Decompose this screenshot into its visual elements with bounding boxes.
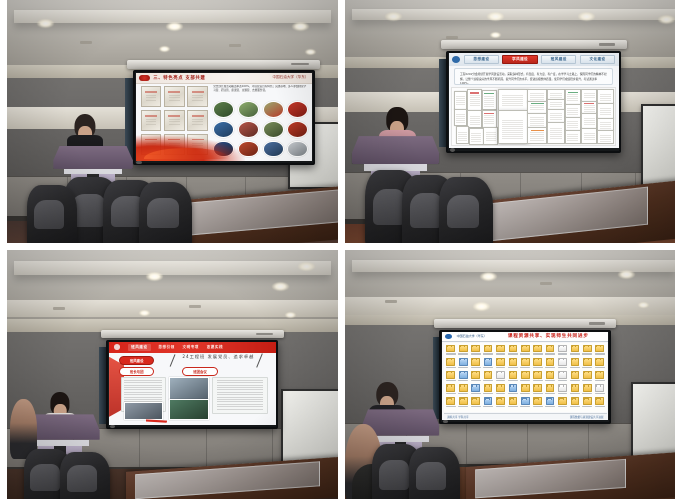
folder-icon xyxy=(496,384,505,391)
folder-icon xyxy=(521,397,530,404)
slide-tab-bar: 思想建设 学风建设 班风建设 文化建设 xyxy=(449,53,619,65)
folder-label xyxy=(483,367,493,368)
content-card-right xyxy=(212,377,267,414)
folder-label xyxy=(545,393,555,394)
screen-side-stand xyxy=(439,59,446,147)
diagonal-rule xyxy=(256,354,263,368)
folder-label xyxy=(471,393,481,394)
document-thumb xyxy=(456,126,469,144)
folder-item[interactable] xyxy=(545,358,556,370)
slide-honors-activities: 三、特色亮点 支部共建 中国石油大学（华东） 党支部开 xyxy=(136,73,312,161)
pill-class-style: 班风建设 xyxy=(119,356,154,366)
folder-item[interactable] xyxy=(507,397,518,409)
document-thumb xyxy=(547,122,565,144)
folder-item[interactable] xyxy=(507,345,518,357)
folder-icon xyxy=(595,397,604,404)
folder-item[interactable] xyxy=(495,397,506,409)
folder-item[interactable] xyxy=(458,384,469,396)
folder-label xyxy=(520,367,530,368)
folder-item[interactable] xyxy=(458,397,469,409)
folder-icon xyxy=(496,345,505,352)
folder-label xyxy=(496,353,506,354)
activity-photo xyxy=(263,101,284,118)
status-bar: 资料共享 学科共享 课程数据与资源建设共享进展 xyxy=(444,413,607,419)
folder-icon xyxy=(583,345,592,352)
ceiling-light xyxy=(658,15,675,24)
folder-label xyxy=(570,393,580,394)
folder-item[interactable] xyxy=(570,397,581,409)
document-thumb xyxy=(597,118,614,131)
folder-item[interactable] xyxy=(532,384,543,396)
folder-icon xyxy=(471,397,480,404)
slide-tabbed-overview: 思想建设 学风建设 班风建设 文化建设 工程2201分会持续开展学风建设活动，采… xyxy=(449,53,619,148)
folder-label xyxy=(471,367,481,368)
document-thumb xyxy=(581,89,598,101)
folder-label xyxy=(471,353,481,354)
folder-icon xyxy=(595,384,604,391)
folder-item[interactable] xyxy=(495,371,506,383)
activity-photo xyxy=(263,121,284,138)
folder-item[interactable] xyxy=(470,371,481,383)
folder-item[interactable] xyxy=(458,358,469,370)
screen-brand-logo xyxy=(450,148,455,152)
folder-icon xyxy=(558,345,567,352)
folder-icon xyxy=(446,358,455,365)
folder-item[interactable] xyxy=(557,358,568,370)
folder-item[interactable] xyxy=(594,345,605,357)
folder-icon xyxy=(471,371,480,378)
folder-label xyxy=(595,367,605,368)
folder-icon xyxy=(558,384,567,391)
folder-label xyxy=(483,380,493,381)
folder-item[interactable] xyxy=(458,345,469,357)
certificate-thumb xyxy=(141,110,162,131)
folder-label xyxy=(458,393,468,394)
event-photo xyxy=(169,377,209,400)
folder-item[interactable] xyxy=(470,358,481,370)
folder-label xyxy=(496,406,506,407)
folder-item[interactable] xyxy=(507,358,518,370)
lectern-top xyxy=(352,136,440,164)
folder-item[interactable] xyxy=(532,371,543,383)
folder-label xyxy=(545,353,555,354)
folder-item[interactable] xyxy=(520,384,531,396)
folder-item[interactable] xyxy=(470,397,481,409)
banner-item-class-style[interactable]: 班风建设 xyxy=(128,344,150,351)
screen-mount-rail xyxy=(434,319,616,328)
activity-photo xyxy=(213,101,234,118)
slide-title: 三、特色亮点 支部共建 xyxy=(153,75,205,81)
folder-icon xyxy=(521,358,530,365)
ceiling-vent xyxy=(189,305,201,308)
whiteboard xyxy=(641,104,675,186)
collage-panel-top-left: 三、特色亮点 支部共建 中国石油大学（华东） 党支部开 xyxy=(7,0,338,243)
folder-item[interactable] xyxy=(582,345,593,357)
slide-kicker: 24工程班 发展党员、追求卓越 xyxy=(182,354,254,360)
conference-chair xyxy=(60,452,110,499)
document-thumb xyxy=(527,101,547,113)
folder-icon xyxy=(583,371,592,378)
ceiling-vent xyxy=(53,307,65,310)
folder-item[interactable] xyxy=(520,397,531,409)
folder-icon xyxy=(558,397,567,404)
folder-label xyxy=(595,353,605,354)
folder-label xyxy=(508,367,518,368)
folder-item[interactable] xyxy=(445,397,456,409)
slide-title: 课程资源共享、实现师生共同进步 xyxy=(491,333,605,339)
folder-icon xyxy=(558,358,567,365)
folder-icon xyxy=(546,358,555,365)
folder-item[interactable] xyxy=(582,397,593,409)
folder-icon xyxy=(509,371,518,378)
folder-icon xyxy=(509,397,518,404)
university-logo-icon xyxy=(445,334,451,339)
folder-label xyxy=(595,406,605,407)
folder-icon xyxy=(546,384,555,391)
folder-icon xyxy=(509,358,518,365)
slide-header: 三、特色亮点 支部共建 中国石油大学（华东） xyxy=(136,73,312,85)
document-thumb xyxy=(581,101,598,114)
certificate-thumb xyxy=(141,86,162,107)
document-thumb xyxy=(527,127,547,144)
folder-icon xyxy=(533,397,542,404)
folder-item[interactable] xyxy=(545,397,556,409)
folder-label xyxy=(533,406,543,407)
ceiling-light xyxy=(166,22,183,31)
status-right-text: 课程数据与资源建设共享进展 xyxy=(570,415,604,419)
slide-class-style: 班风建设 思想引领 文明专项 志愿实践 班风建设 班长与团 班团会议 24工程班… xyxy=(109,342,276,425)
activity-photo xyxy=(263,141,284,158)
folder-icon xyxy=(546,397,555,404)
folder-label xyxy=(496,380,506,381)
ceiling-vent xyxy=(80,41,92,44)
folder-item[interactable] xyxy=(483,358,494,370)
diagonal-rule xyxy=(170,355,176,368)
folder-item[interactable] xyxy=(520,371,531,383)
folder-item[interactable] xyxy=(470,384,481,396)
folder-item[interactable] xyxy=(594,358,605,370)
slide-org-name: 中国石油大学（华东） xyxy=(272,75,308,80)
room-scene: 思想建设 学风建设 班风建设 文化建设 工程2201分会持续开展学风建设活动，采… xyxy=(345,0,675,243)
folder-icon xyxy=(571,397,580,404)
folder-item[interactable] xyxy=(570,358,581,370)
banner-item-civility[interactable]: 文明专项 xyxy=(183,345,199,350)
folder-item[interactable] xyxy=(507,384,518,396)
folder-item[interactable] xyxy=(557,397,568,409)
event-photo xyxy=(169,399,209,419)
document-thumb xyxy=(483,127,498,145)
folder-label xyxy=(533,393,543,394)
document-thumb xyxy=(454,109,467,126)
document-collage xyxy=(451,87,616,146)
presentation-screen: 班风建设 思想引领 文明专项 志愿实践 班风建设 班长与团 班团会议 24工程班… xyxy=(106,340,278,430)
folder-item[interactable] xyxy=(594,397,605,409)
folder-item[interactable] xyxy=(545,371,556,383)
screen-mount-rail xyxy=(127,60,320,69)
folder-icon xyxy=(509,384,518,391)
folder-icon xyxy=(533,384,542,391)
red-ribbon-graphic xyxy=(136,135,245,161)
folder-item[interactable] xyxy=(483,384,494,396)
folder-item[interactable] xyxy=(495,345,506,357)
ceiling-light xyxy=(618,270,635,279)
folder-icon xyxy=(571,384,580,391)
activity-photo xyxy=(287,121,308,138)
slide-file-explorer: 中国石油大学（华东） 课程资源共享、实现师生共同进步 资料共享 学科共享 课程数… xyxy=(442,332,608,420)
folder-item[interactable] xyxy=(445,384,456,396)
ceiling-light xyxy=(487,12,504,21)
status-left-text: 资料共享 学科共享 xyxy=(447,415,469,419)
room-scene: 三、特色亮点 支部共建 中国石油大学（华东） 党支部开 xyxy=(7,0,338,243)
whiteboard xyxy=(281,389,338,468)
banner-item-volunteer[interactable]: 志愿实践 xyxy=(207,345,223,350)
folder-icon xyxy=(521,371,530,378)
slide-banner: 班风建设 思想引领 文明专项 志愿实践 xyxy=(109,342,276,353)
folder-item[interactable] xyxy=(532,358,543,370)
banner-item-thought-guidance[interactable]: 思想引领 xyxy=(158,345,174,350)
folder-item[interactable] xyxy=(557,345,568,357)
folder-item[interactable] xyxy=(445,358,456,370)
folder-icon xyxy=(571,345,580,352)
folder-item[interactable] xyxy=(483,397,494,409)
folder-item[interactable] xyxy=(582,384,593,396)
whiteboard xyxy=(631,382,675,461)
party-emblem-icon xyxy=(139,75,150,82)
screen-mount-rail xyxy=(101,330,283,338)
folder-icon xyxy=(471,384,480,391)
folder-icon xyxy=(459,384,468,391)
folder-icon xyxy=(521,345,530,352)
screen-side-stand xyxy=(99,347,106,424)
folder-label xyxy=(508,380,518,381)
ceiling-vent xyxy=(540,282,552,285)
ceiling-light xyxy=(578,12,595,21)
presentation-screen: 思想建设 学风建设 班风建设 文化建设 工程2201分会持续开展学风建设活动，采… xyxy=(446,51,621,153)
folder-icon xyxy=(521,384,530,391)
folder-icon xyxy=(533,358,542,365)
ceiling-light xyxy=(139,310,150,316)
folder-label xyxy=(533,380,543,381)
folder-item[interactable] xyxy=(507,371,518,383)
folder-icon xyxy=(571,371,580,378)
document-thumb xyxy=(482,90,497,110)
folder-item[interactable] xyxy=(582,371,593,383)
folder-item[interactable] xyxy=(470,345,481,357)
folder-label xyxy=(508,393,518,394)
collage-panel-bottom-left: 班风建设 思想引领 文明专项 志愿实践 班风建设 班长与团 班团会议 24工程班… xyxy=(7,250,338,499)
folder-label xyxy=(520,393,530,394)
folder-icon xyxy=(484,358,493,365)
university-logo-icon xyxy=(114,344,120,349)
screen-brand-logo xyxy=(136,161,141,165)
folder-icon xyxy=(595,371,604,378)
folder-item[interactable] xyxy=(557,371,568,383)
folder-item[interactable] xyxy=(594,371,605,383)
folder-label xyxy=(570,353,580,354)
conference-chair xyxy=(27,185,77,243)
folder-label xyxy=(558,380,568,381)
folder-item[interactable] xyxy=(594,384,605,396)
ceiling-vent xyxy=(385,300,397,303)
folder-grid xyxy=(444,343,607,413)
slide-org-name: 中国石油大学（华东） xyxy=(457,334,487,338)
folder-icon xyxy=(595,345,604,352)
photo-collage: 三、特色亮点 支部共建 中国石油大学（华东） 党支部开 xyxy=(0,0,675,499)
ceiling-light xyxy=(292,22,309,31)
folder-icon xyxy=(446,397,455,404)
certificate-thumb xyxy=(164,86,185,107)
folder-icon xyxy=(459,371,468,378)
folder-icon xyxy=(558,371,567,378)
collage-panel-bottom-right: 中国石油大学（华东） 课程资源共享、实现师生共同进步 资料共享 学科共享 课程数… xyxy=(345,250,675,499)
folder-item[interactable] xyxy=(458,371,469,383)
folder-item[interactable] xyxy=(570,371,581,383)
lectern-top xyxy=(53,146,132,169)
folder-item[interactable] xyxy=(570,384,581,396)
certificate-thumb xyxy=(164,110,185,131)
presentation-screen: 三、特色亮点 支部共建 中国石油大学（华东） 党支部开 xyxy=(133,70,315,165)
folder-icon xyxy=(583,384,592,391)
folder-item[interactable] xyxy=(520,345,531,357)
folder-icon xyxy=(546,345,555,352)
folder-label xyxy=(446,367,456,368)
folder-label xyxy=(458,406,468,407)
folder-icon xyxy=(484,345,493,352)
folder-icon xyxy=(484,371,493,378)
folder-label xyxy=(570,380,580,381)
folder-icon xyxy=(459,397,468,404)
conference-chair xyxy=(439,177,493,243)
ceiling-light xyxy=(490,32,501,38)
folder-item[interactable] xyxy=(545,384,556,396)
folder-icon xyxy=(484,384,493,391)
folder-icon xyxy=(533,371,542,378)
room-scene: 中国石油大学（华东） 课程资源共享、实现师生共同进步 资料共享 学科共享 课程数… xyxy=(345,250,675,499)
document-thumb xyxy=(581,113,598,129)
ceiling-light xyxy=(305,49,316,55)
folder-label xyxy=(458,367,468,368)
pill-monitor-league: 班长与团 xyxy=(119,367,154,377)
folder-item[interactable] xyxy=(483,345,494,357)
folder-label xyxy=(483,353,493,354)
folder-item[interactable] xyxy=(445,371,456,383)
university-logo-icon xyxy=(452,56,460,63)
folder-label xyxy=(533,367,543,368)
folder-icon xyxy=(496,358,505,365)
folder-label xyxy=(483,393,493,394)
table-glass-top xyxy=(475,459,626,499)
folder-item[interactable] xyxy=(445,345,456,357)
folder-label xyxy=(570,367,580,368)
folder-label xyxy=(471,406,481,407)
folder-label xyxy=(570,406,580,407)
folder-label xyxy=(545,380,555,381)
folder-icon xyxy=(484,397,493,404)
document-thumb xyxy=(454,91,467,110)
slide-tab-culture[interactable]: 文化建设 xyxy=(580,55,615,65)
folder-icon xyxy=(446,371,455,378)
folder-icon xyxy=(496,397,505,404)
folder-icon xyxy=(595,358,604,365)
document-thumb-featured xyxy=(498,89,528,111)
folder-label xyxy=(595,380,605,381)
document-thumb xyxy=(565,89,582,104)
folder-label xyxy=(520,380,530,381)
folder-label xyxy=(558,353,568,354)
slide-header: 中国石油大学（华东） 课程资源共享、实现师生共同进步 xyxy=(442,332,608,342)
folder-icon xyxy=(546,371,555,378)
folder-item[interactable] xyxy=(520,358,531,370)
folder-label xyxy=(582,380,592,381)
document-thumb xyxy=(597,103,614,119)
folder-label xyxy=(458,353,468,354)
folder-label xyxy=(533,353,543,354)
folder-label xyxy=(582,406,592,407)
certificate-thumb xyxy=(187,110,208,131)
folder-label xyxy=(508,406,518,407)
folder-icon xyxy=(459,345,468,352)
event-photo xyxy=(124,402,163,420)
document-thumb xyxy=(565,130,582,145)
folder-item[interactable] xyxy=(557,384,568,396)
folder-icon xyxy=(471,358,480,365)
slide-body-text: 工程2201分会持续开展学风建设活动，采取多种形式，有温度、有力度、有广度，在学… xyxy=(454,68,613,85)
folder-label xyxy=(582,393,592,394)
folder-label xyxy=(446,393,456,394)
folder-item[interactable] xyxy=(495,358,506,370)
folder-item[interactable] xyxy=(570,345,581,357)
folder-item[interactable] xyxy=(582,358,593,370)
folder-icon xyxy=(446,345,455,352)
folder-label xyxy=(446,353,456,354)
document-thumb xyxy=(469,128,484,145)
folder-item[interactable] xyxy=(495,384,506,396)
slide-tab-thought[interactable]: 思想建设 xyxy=(464,55,499,65)
room-scene: 班风建设 思想引领 文明专项 志愿实践 班风建设 班长与团 班团会议 24工程班… xyxy=(7,250,338,499)
slide-tab-study-style[interactable]: 学风建设 xyxy=(502,55,537,65)
activity-photo xyxy=(287,141,308,158)
certificate-thumb xyxy=(187,86,208,107)
document-thumb xyxy=(565,104,582,119)
folder-item[interactable] xyxy=(532,397,543,409)
slide-tab-class-style[interactable]: 班风建设 xyxy=(541,55,576,65)
folder-item[interactable] xyxy=(532,345,543,357)
ceiling xyxy=(7,250,338,332)
folder-label xyxy=(545,406,555,407)
folder-item[interactable] xyxy=(545,345,556,357)
folder-label xyxy=(558,367,568,368)
presentation-screen: 中国石油大学（华东） 课程资源共享、实现师生共同进步 资料共享 学科共享 课程数… xyxy=(439,330,611,425)
ceiling-vent xyxy=(446,36,458,39)
document-thumb xyxy=(467,89,482,110)
folder-label xyxy=(471,380,481,381)
document-thumb xyxy=(565,117,582,130)
folder-label xyxy=(520,406,530,407)
document-thumb xyxy=(597,89,614,104)
document-thumb-featured xyxy=(498,110,528,144)
folder-item[interactable] xyxy=(483,371,494,383)
document-thumb xyxy=(597,130,614,144)
folder-label xyxy=(582,353,592,354)
folder-label xyxy=(595,393,605,394)
screen-side-stand xyxy=(433,337,440,418)
ceiling-vent xyxy=(229,44,241,47)
folder-label xyxy=(496,367,506,368)
conference-chair xyxy=(139,182,192,243)
folder-label xyxy=(508,353,518,354)
screen-mount-rail xyxy=(441,40,627,49)
folder-icon xyxy=(571,358,580,365)
